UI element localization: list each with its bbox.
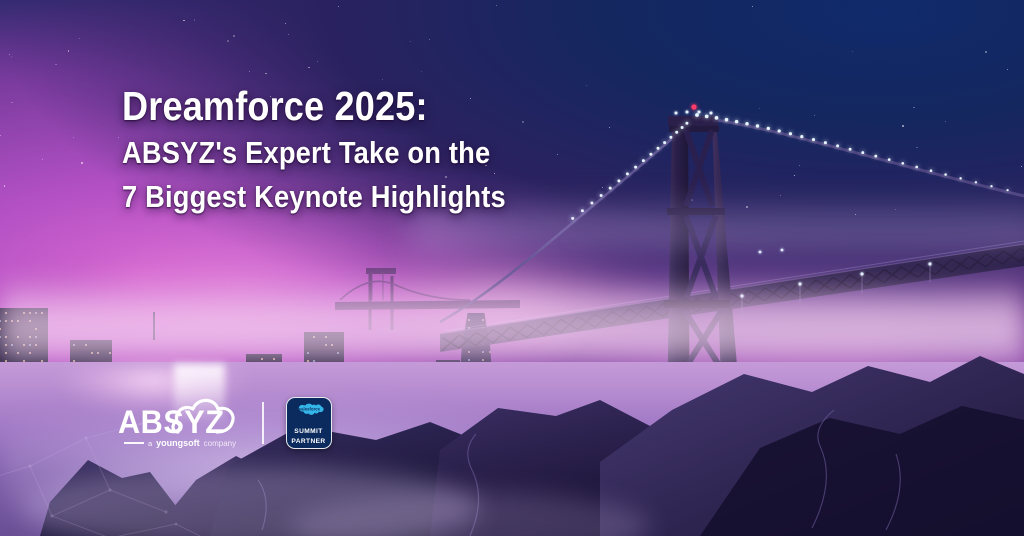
- tagline-rule: [124, 442, 144, 444]
- tagline-prefix: a: [148, 439, 152, 448]
- headline-line-3: 7 Biggest Keynote Highlights: [122, 175, 615, 219]
- headline-line-1: Dreamforce 2025:: [122, 82, 615, 131]
- dreamforce-banner: Dreamforce 2025: ABSYZ's Expert Take on …: [0, 0, 1024, 536]
- absyz-tagline: a youngsoft company: [124, 438, 236, 448]
- headline-block: Dreamforce 2025: ABSYZ's Expert Take on …: [122, 82, 682, 219]
- badge-line-1: SUMMIT: [294, 428, 322, 436]
- logo-divider: [262, 402, 264, 444]
- absyz-logo[interactable]: ABSYZ a youngsoft company: [118, 392, 242, 454]
- salesforce-cloud-icon: salesforce: [294, 402, 324, 426]
- logo-row: ABSYZ a youngsoft company salesforce SUM…: [118, 392, 332, 454]
- bridge-approach-span: [335, 268, 520, 330]
- badge-line-2: PARTNER: [291, 438, 325, 446]
- tagline-suffix: company: [204, 439, 236, 448]
- absyz-wordmark: ABSYZ: [118, 406, 225, 438]
- salesforce-wordmark: salesforce: [298, 406, 320, 411]
- headline-line-2: ABSYZ's Expert Take on the: [122, 131, 615, 175]
- salesforce-summit-partner-badge[interactable]: salesforce SUMMIT PARTNER: [286, 397, 332, 449]
- tagline-brand: youngsoft: [156, 438, 200, 448]
